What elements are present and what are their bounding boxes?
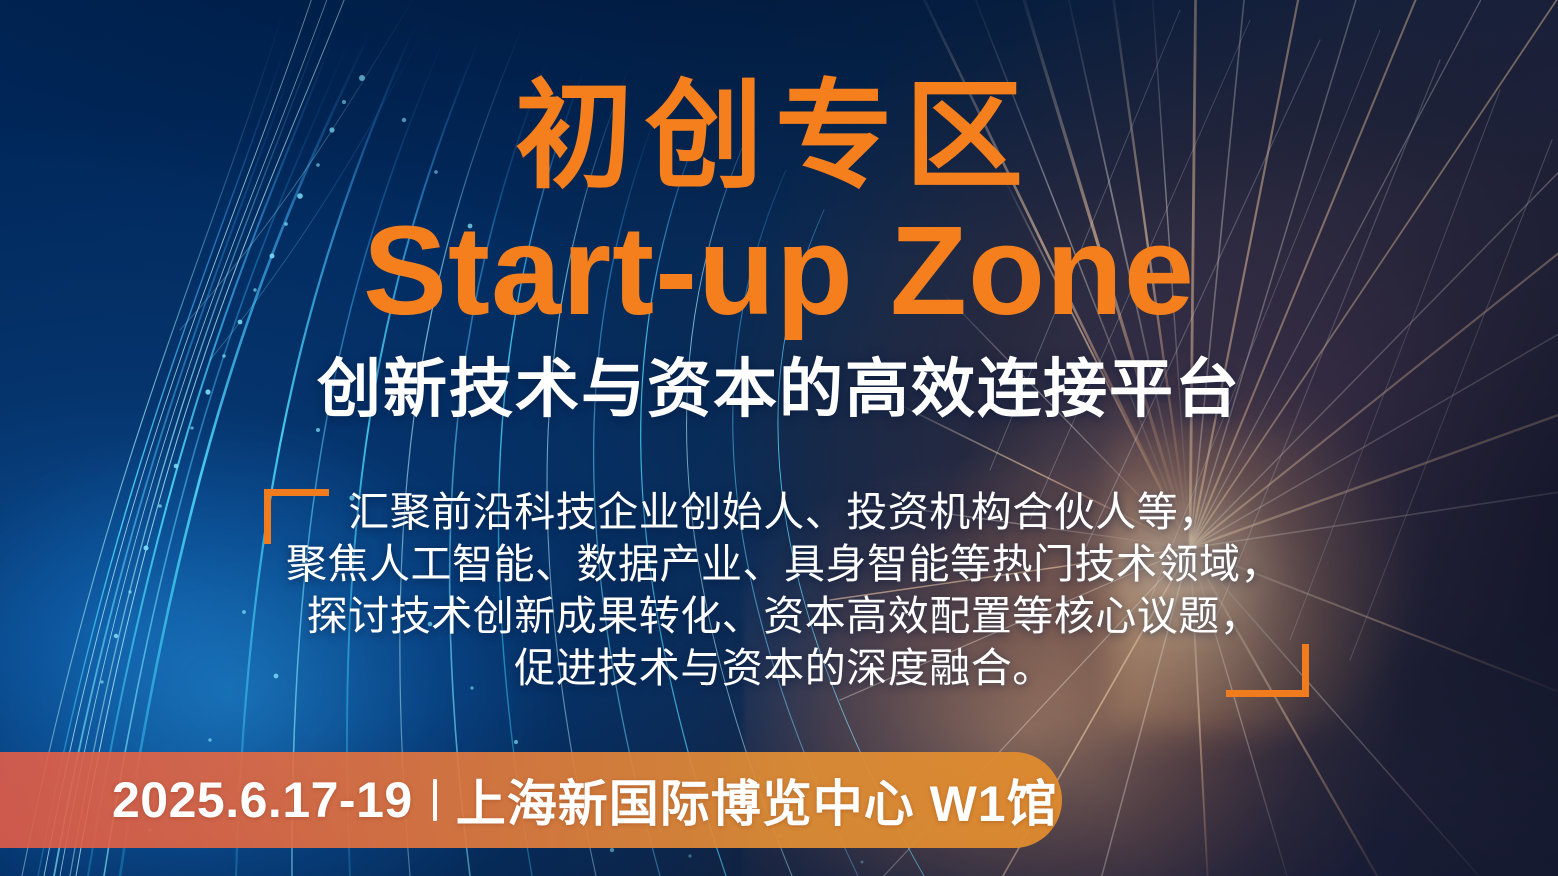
description-block: 汇聚前沿科技企业创始人、投资机构合伙人等， 聚焦人工智能、数据产业、具身智能等热… (279, 486, 1289, 694)
description-line: 探讨技术创新成果转化、资本高效配置等核心议题， (279, 590, 1289, 642)
event-venue: 上海新国际博览中心 W1馆 (456, 764, 1058, 836)
promo-banner: 初创专区 Start-up Zone 创新技术与资本的高效连接平台 汇聚前沿科技… (0, 0, 1558, 876)
page-title-chinese: 初创专区 (0, 78, 1558, 196)
page-title-english: Start-up Zone (0, 208, 1558, 334)
description-line: 促进技术与资本的深度融合。 (279, 642, 1289, 694)
page-subtitle: 创新技术与资本的高效连接平台 (0, 357, 1558, 421)
corner-bracket-bottom-right-icon (1226, 644, 1309, 697)
separator-icon (433, 779, 437, 821)
event-date: 2025.6.17-19 (112, 771, 413, 829)
corner-bracket-top-left-icon (264, 489, 329, 544)
description-line: 汇聚前沿科技企业创始人、投资机构合伙人等， (279, 486, 1289, 538)
description-line: 聚焦人工智能、数据产业、具身智能等热门技术领域， (279, 538, 1289, 590)
date-venue-text: 2025.6.17-19 上海新国际博览中心 W1馆 (112, 752, 1058, 848)
